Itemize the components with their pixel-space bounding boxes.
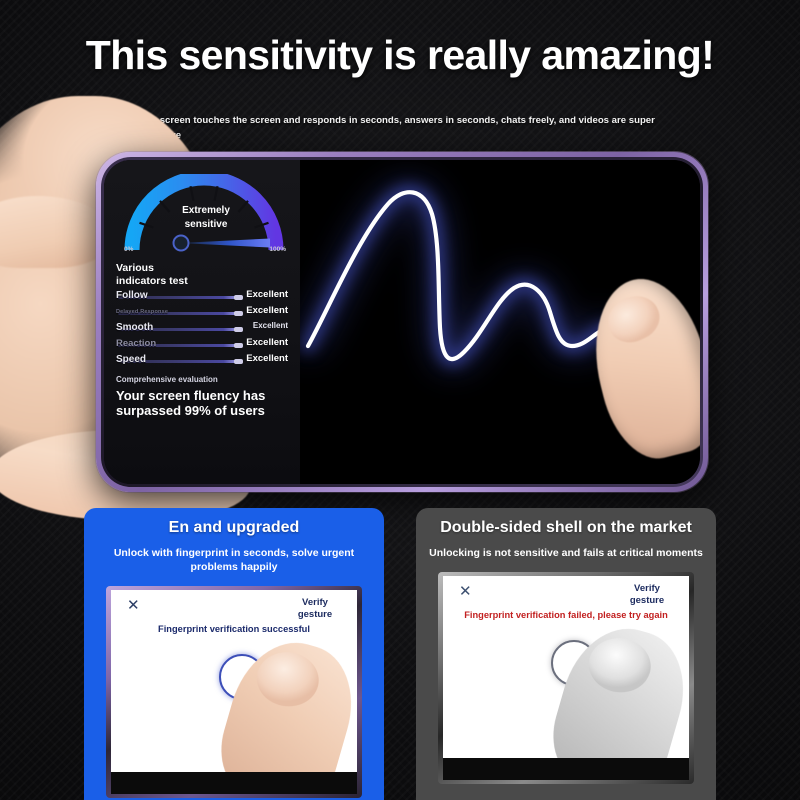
touch-trace-area[interactable]: [300, 160, 700, 484]
gauge-annotation: Extremely sensitive: [158, 204, 254, 231]
sensitivity-stats-panel: Extremely sensitive 0% 100% Various indi…: [104, 160, 300, 484]
list-item: Speed Excellent: [116, 352, 290, 368]
mini-phone-screen[interactable]: ✕ Verify gesture Fingerprint verificatio…: [443, 576, 689, 780]
fingerprint-finger: [209, 629, 357, 794]
screen-bottom-bar: [443, 758, 689, 780]
status-message: Fingerprint verification failed, please …: [451, 609, 681, 621]
evaluation-text: Your screen fluency has surpassed 99% of…: [116, 388, 290, 420]
status-message: Fingerprint verification successful: [119, 623, 349, 635]
verify-line1: Verify: [634, 583, 660, 594]
comparison-cards: En and upgraded Unlock with fingerprint …: [0, 508, 800, 800]
card-title: En and upgraded: [96, 519, 372, 537]
main-phone-device: Extremely sensitive 0% 100% Various indi…: [96, 152, 708, 492]
gauge-annotation-line2: sensitive: [185, 219, 228, 230]
indicator-label: Follow: [116, 290, 148, 301]
gauge-max-label: 100%: [269, 246, 286, 253]
card-header: En and upgraded Unlock with fingerprint …: [84, 508, 384, 586]
verify-gesture-label: Verify gesture: [619, 583, 675, 607]
page-subtitle: The screen touches the screen and respon…: [140, 114, 680, 144]
indicator-value: Excellent: [253, 321, 288, 330]
page-title: This sensitivity is really amazing!: [0, 32, 800, 79]
finger-nail: [601, 288, 666, 349]
finger-nail: [585, 634, 654, 696]
indicator-label: Speed: [116, 354, 146, 365]
list-item: Smooth Excellent: [116, 320, 290, 336]
indicator-value: Excellent: [246, 337, 288, 348]
close-icon[interactable]: ✕: [459, 585, 473, 599]
indicator-label: Reaction: [116, 338, 156, 349]
indicator-value: Excellent: [246, 305, 288, 316]
card-market-shell: Double-sided shell on the market Unlocki…: [416, 508, 716, 800]
main-phone-screen[interactable]: Extremely sensitive 0% 100% Various indi…: [104, 160, 700, 484]
fingerprint-finger: [541, 615, 689, 780]
indicator-label: Smooth: [116, 322, 153, 333]
verify-gesture-label: Verify gesture: [287, 597, 343, 621]
gauge-annotation-line1: Extremely: [182, 205, 230, 216]
card-title: Double-sided shell on the market: [428, 519, 704, 537]
card-header: Double-sided shell on the market Unlocki…: [416, 508, 716, 572]
verify-line2: gesture: [298, 609, 332, 620]
evaluation-label: Comprehensive evaluation: [116, 375, 290, 384]
phone-inner-bezel: Extremely sensitive 0% 100% Various indi…: [101, 157, 703, 487]
mini-phone-frame: ✕ Verify gesture Fingerprint verificatio…: [438, 572, 694, 784]
indicators-heading-line2: indicators test: [116, 275, 188, 287]
mini-phone-frame: ✕ Verify gesture Fingerprint verificatio…: [106, 586, 362, 798]
card-subtitle: Unlock with fingerprint in seconds, solv…: [96, 546, 372, 574]
verify-line2: gesture: [630, 595, 664, 606]
list-item: Follow Excellent: [116, 288, 290, 304]
list-item: Delayed Response Excellent: [116, 304, 290, 320]
close-icon[interactable]: ✕: [127, 599, 141, 613]
indicator-value: Excellent: [246, 353, 288, 364]
mini-phone-bad: ✕ Verify gesture Fingerprint verificatio…: [416, 572, 716, 784]
gauge-min-label: 0%: [124, 246, 133, 253]
finger-nail: [253, 648, 322, 710]
mini-phone-good: ✕ Verify gesture Fingerprint verificatio…: [84, 586, 384, 798]
promo-canvas: This sensitivity is really amazing! The …: [0, 0, 800, 800]
indicators-heading-line1: Various: [116, 262, 154, 274]
sensitivity-gauge: Extremely sensitive 0% 100%: [118, 174, 290, 260]
screen-bottom-bar: [111, 772, 357, 794]
mini-phone-screen[interactable]: ✕ Verify gesture Fingerprint verificatio…: [111, 590, 357, 794]
indicator-list: Follow Excellent Delayed Response Excell…: [116, 288, 290, 368]
indicator-label: Delayed Response: [116, 309, 168, 315]
indicator-value: Excellent: [246, 289, 288, 300]
card-subtitle: Unlocking is not sensitive and fails at …: [428, 546, 704, 560]
list-item: Reaction Excellent: [116, 336, 290, 352]
verify-line1: Verify: [302, 597, 328, 608]
indicators-heading: Various indicators test: [116, 262, 290, 288]
card-upgraded: En and upgraded Unlock with fingerprint …: [84, 508, 384, 800]
